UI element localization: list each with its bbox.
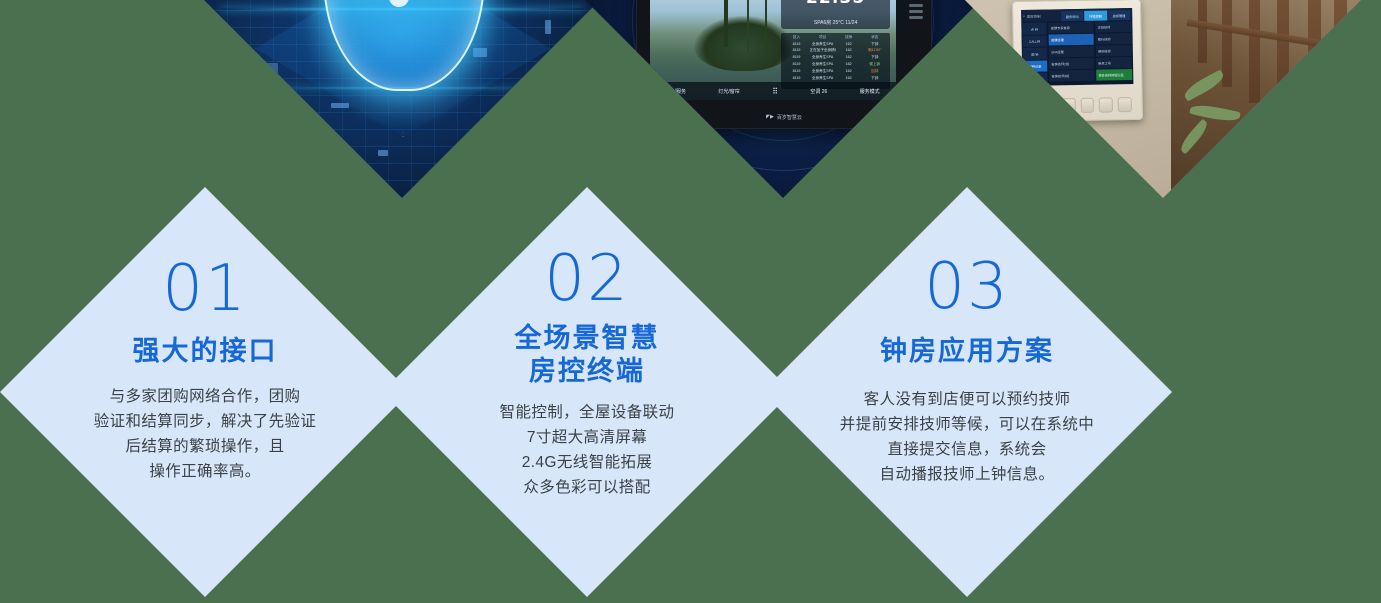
feature-card-02: 02 全场景智慧房控终端 智能控制，全屋设备联动7寸超大高清屏幕2.4G无线智能…: [382, 187, 792, 597]
panel-button[interactable]: [1024, 99, 1038, 114]
mid-menu-item[interactable]: 客房技师2组: [1049, 58, 1094, 70]
card-description: 与多家团购网络合作，团购验证和结算同步，解决了先验证后结算的繁琐操作，且操作正确…: [0, 384, 410, 484]
left-menu-item-selected[interactable]: 停钟记录: [1022, 60, 1047, 72]
tab-environment-control[interactable]: 环境控制: [1084, 10, 1107, 21]
clock-meta: SPA6房 25°C 11/24: [781, 19, 889, 26]
mid-menu-item[interactable]: SPA经理: [1049, 46, 1094, 58]
panel-logo-icon: ⌂: [1022, 14, 1024, 18]
tab-technician-manage[interactable]: 技师管理: [1107, 10, 1130, 21]
mid-menu-item[interactable]: 客房技师3组: [1049, 70, 1094, 82]
panel-right-menu[interactable]: 正班技师 晚行技师 候钟技师 新员工号 更多技师按钮公区: [1094, 21, 1133, 85]
card-title: 钟房应用方案: [762, 335, 1172, 368]
room-scene: ⌂ 客房控制 服务呼叫 环境控制 技师管理 点 钟 CALL钟 圈 钟 停: [965, 0, 1361, 198]
shield-scene: [204, 0, 600, 198]
smart-room-control-tablet-image: CSI280 22:35 SPA6房 25°C 11/24 技入 项目 技师: [585, 0, 981, 198]
table-header-row: 技入 项目 技师 状态: [783, 34, 887, 41]
clock-widget: 22:35 SPA6房 25°C 11/24: [781, 0, 889, 29]
left-menu-item[interactable]: 选 钟: [1022, 73, 1047, 85]
right-menu-item[interactable]: 候钟技师: [1095, 45, 1131, 56]
table-row: 8119 全身养生SPA 162 加钟: [783, 68, 887, 75]
table-row: 8119 正在加子全身精疗 162 剩11'50": [783, 47, 887, 54]
card-title: 强大的接口: [0, 335, 410, 368]
table-row: 8119 全身养生SPA 162 下钟: [783, 41, 887, 48]
panel-hardware-buttons[interactable]: [1024, 94, 1131, 117]
panel-tabs[interactable]: 服务呼叫 环境控制 技师管理: [1060, 10, 1129, 22]
table-row: 8119 全身养生SPA 162 候上钟: [783, 61, 887, 68]
clock-time: 22:35: [781, 0, 889, 7]
apps-grid-icon[interactable]: ⠿: [772, 87, 778, 96]
table-row: 8119 全身养生SPA 162 下钟: [783, 54, 887, 61]
brand-logo-icon: ◤▶: [766, 114, 774, 120]
mid-menu-item[interactable]: 保健专家首席: [1048, 22, 1093, 34]
room-window-area: [1171, 0, 1361, 198]
card-number: 02: [382, 247, 792, 311]
tablet-scene: CSI280 22:35 SPA6房 25°C 11/24 技入 项目 技师: [585, 0, 981, 198]
card-number: 03: [762, 255, 1172, 319]
right-menu-item[interactable]: 新员工号: [1096, 57, 1132, 68]
left-menu-item[interactable]: 圈 钟: [1022, 48, 1047, 60]
panel-left-menu[interactable]: 点 钟 CALL钟 圈 钟 停钟记录 选 钟: [1020, 22, 1048, 86]
panel-middle-menu[interactable]: 保健专家首席 保健经理 SPA经理 客房技师2组 客房技师3组: [1047, 21, 1095, 86]
left-menu-item[interactable]: CALL钟: [1022, 35, 1047, 47]
tab-service-call[interactable]: 服务呼叫: [1060, 11, 1083, 22]
panel-button[interactable]: [1061, 98, 1075, 113]
tablet-device: CSI280 22:35 SPA6房 25°C 11/24 技入 项目 技师: [636, 0, 931, 129]
bottom-bar-item[interactable]: 呼叫服务: [666, 88, 686, 95]
wall-control-panel[interactable]: ⌂ 客房控制 服务呼叫 环境控制 技师管理 点 钟 CALL钟 圈 钟 停: [1011, 0, 1142, 122]
panel-body: 点 钟 CALL钟 圈 钟 停钟记录 选 钟 保健专家首席 保健经理 SPA经理…: [1020, 21, 1133, 87]
bottom-bar-item[interactable]: 灯光/窗帘: [718, 88, 739, 95]
left-menu-item[interactable]: 点 钟: [1021, 23, 1046, 35]
table-row: 8119 全身养生SPA 162 下钟: [783, 75, 887, 82]
wall-control-panel-room-image: ⌂ 客房控制 服务呼叫 环境控制 技师管理 点 钟 CALL钟 圈 钟 停: [965, 0, 1361, 198]
right-menu-item[interactable]: 正班技师: [1095, 22, 1131, 33]
right-menu-item-highlighted[interactable]: 更多技师按钮公区: [1096, 69, 1132, 80]
tablet-side-buttons: [906, 1, 927, 72]
holographic-shield-circuit-image: [204, 0, 600, 198]
bottom-bar-item[interactable]: 服务模式: [860, 88, 880, 95]
mid-menu-item-selected[interactable]: 保健经理: [1048, 34, 1093, 46]
panel-screen[interactable]: ⌂ 客房控制 服务呼叫 环境控制 技师管理 点 钟 CALL钟 圈 钟 停: [1020, 8, 1133, 86]
feature-card-01: 01 强大的接口 与多家团购网络合作，团购验证和结算同步，解决了先验证后结算的繁…: [0, 187, 410, 597]
tablet-brand-bottom: ◤▶ 百岁智慧云: [637, 109, 930, 125]
right-menu-item[interactable]: 晚行技师: [1095, 33, 1131, 44]
screen-bottom-bar[interactable]: 呼叫服务 灯光/窗帘 ⠿ 空调 26 服务模式: [650, 82, 896, 100]
panel-button[interactable]: [1117, 97, 1131, 112]
feature-card-03: 03 钟房应用方案 客人没有到店便可以预约技师并提前安排技师等候，可以在系统中直…: [762, 187, 1172, 597]
brand-name: 百岁智慧云: [777, 114, 802, 121]
feature-diamond-banner: CSI280 22:35 SPA6房 25°C 11/24 技入 项目 技师: [0, 0, 1381, 603]
panel-button[interactable]: [1098, 98, 1112, 113]
panel-header-title: 客房控制: [1026, 14, 1040, 19]
panel-button[interactable]: [1043, 99, 1057, 114]
bottom-bar-item[interactable]: 空调 26: [810, 88, 827, 95]
card-description: 客人没有到店便可以预约技师并提前安排技师等候，可以在系统中直接提交信息，系统会自…: [762, 387, 1172, 487]
tablet-screen: 22:35 SPA6房 25°C 11/24 技入 项目 技师 状态 8119: [650, 0, 896, 100]
panel-button[interactable]: [1080, 98, 1094, 113]
card-title: 全场景智慧房控终端: [382, 322, 792, 388]
card-description: 智能控制，全屋设备联动7寸超大高清屏幕2.4G无线智能拓展众多色彩可以搭配: [382, 400, 792, 500]
room-status-table: 技入 项目 技师 状态 8119 全身养生SPA 162 下钟 8119: [781, 33, 889, 89]
card-number: 01: [0, 257, 410, 321]
